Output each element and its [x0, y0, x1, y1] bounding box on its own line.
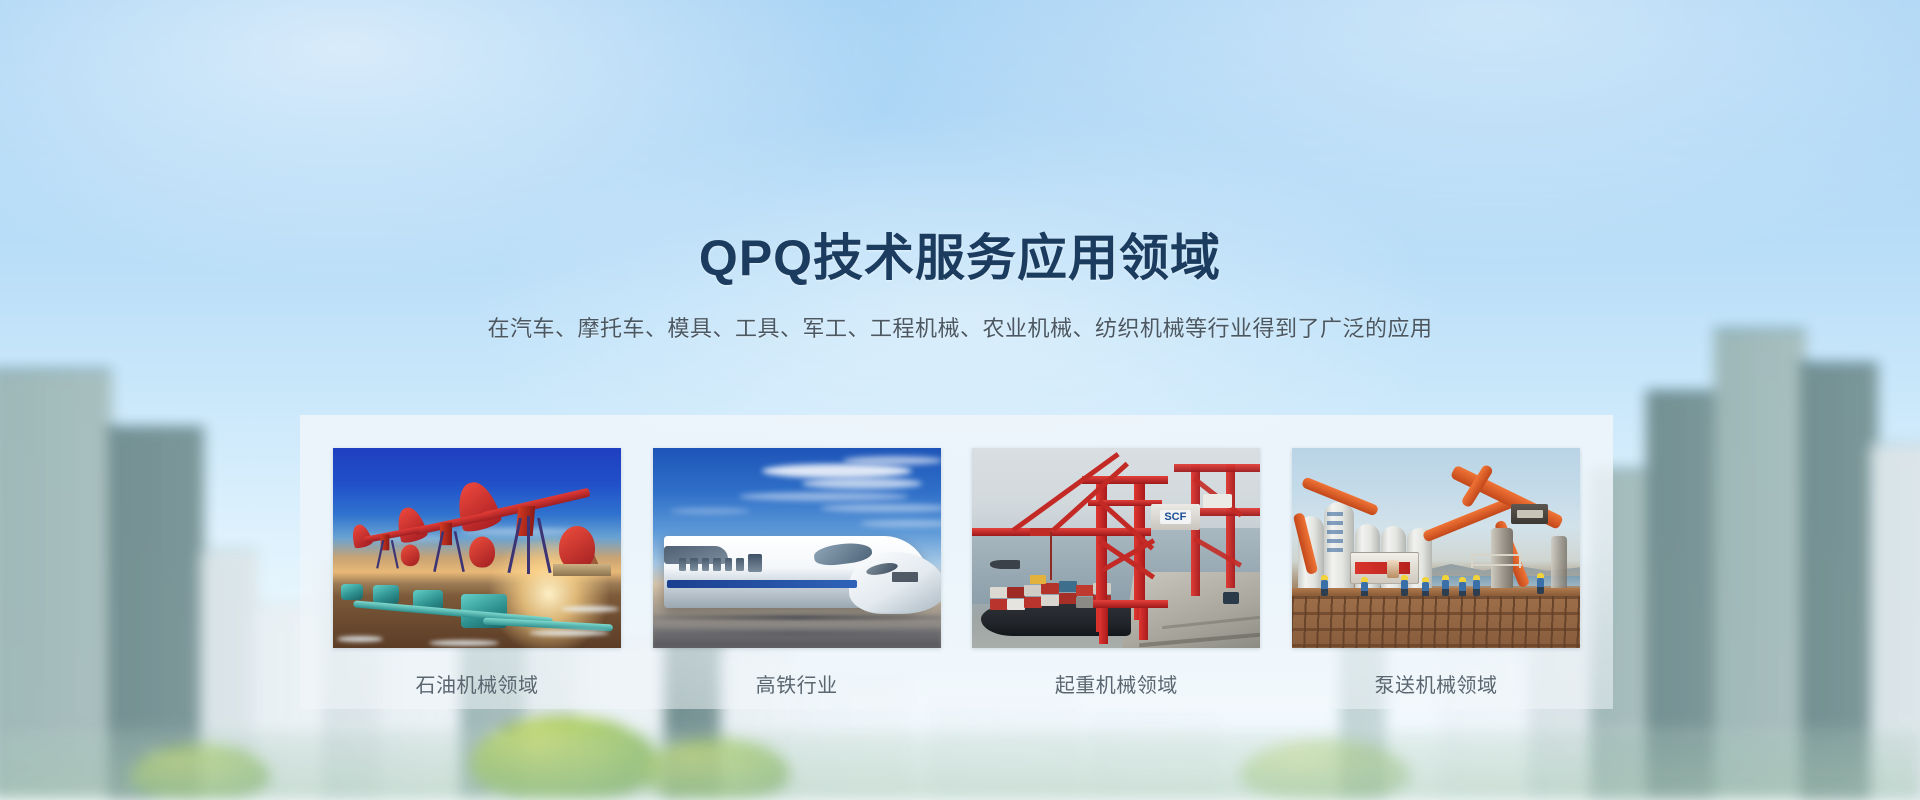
card-label: 高铁行业 [653, 669, 941, 698]
concrete-pump-site-photo[interactable] [1292, 448, 1580, 648]
card-high-speed-rail[interactable]: 高铁行业 [653, 448, 941, 698]
card-label: 泵送机械领域 [1292, 669, 1580, 698]
page-subtitle: 在汽车、摩托车、模具、工具、军工、工程机械、农业机械、纺织机械等行业得到了广泛的… [0, 311, 1920, 343]
card-pumping-machinery[interactable]: 泵送机械领域 [1292, 448, 1580, 698]
application-fields-panel: 石油机械领域 [300, 415, 1613, 709]
crane-scf-logo: SCF [1160, 510, 1192, 524]
card-oil-machinery[interactable]: 石油机械领域 [333, 448, 621, 698]
oil-pumpjacks-sunset-photo[interactable] [333, 448, 621, 648]
page-title: QPQ技术服务应用领域 [0, 233, 1920, 283]
port-gantry-cranes-photo[interactable]: SCF [972, 448, 1260, 648]
card-label: 起重机械领域 [972, 669, 1260, 698]
card-label: 石油机械领域 [333, 669, 621, 698]
high-speed-train-photo[interactable] [653, 448, 941, 648]
application-cards-row: 石油机械领域 [300, 415, 1613, 698]
heading-block: QPQ技术服务应用领域 在汽车、摩托车、模具、工具、军工、工程机械、农业机械、纺… [0, 0, 1920, 343]
card-lifting-machinery[interactable]: SCF 起重机械领域 [972, 448, 1260, 698]
